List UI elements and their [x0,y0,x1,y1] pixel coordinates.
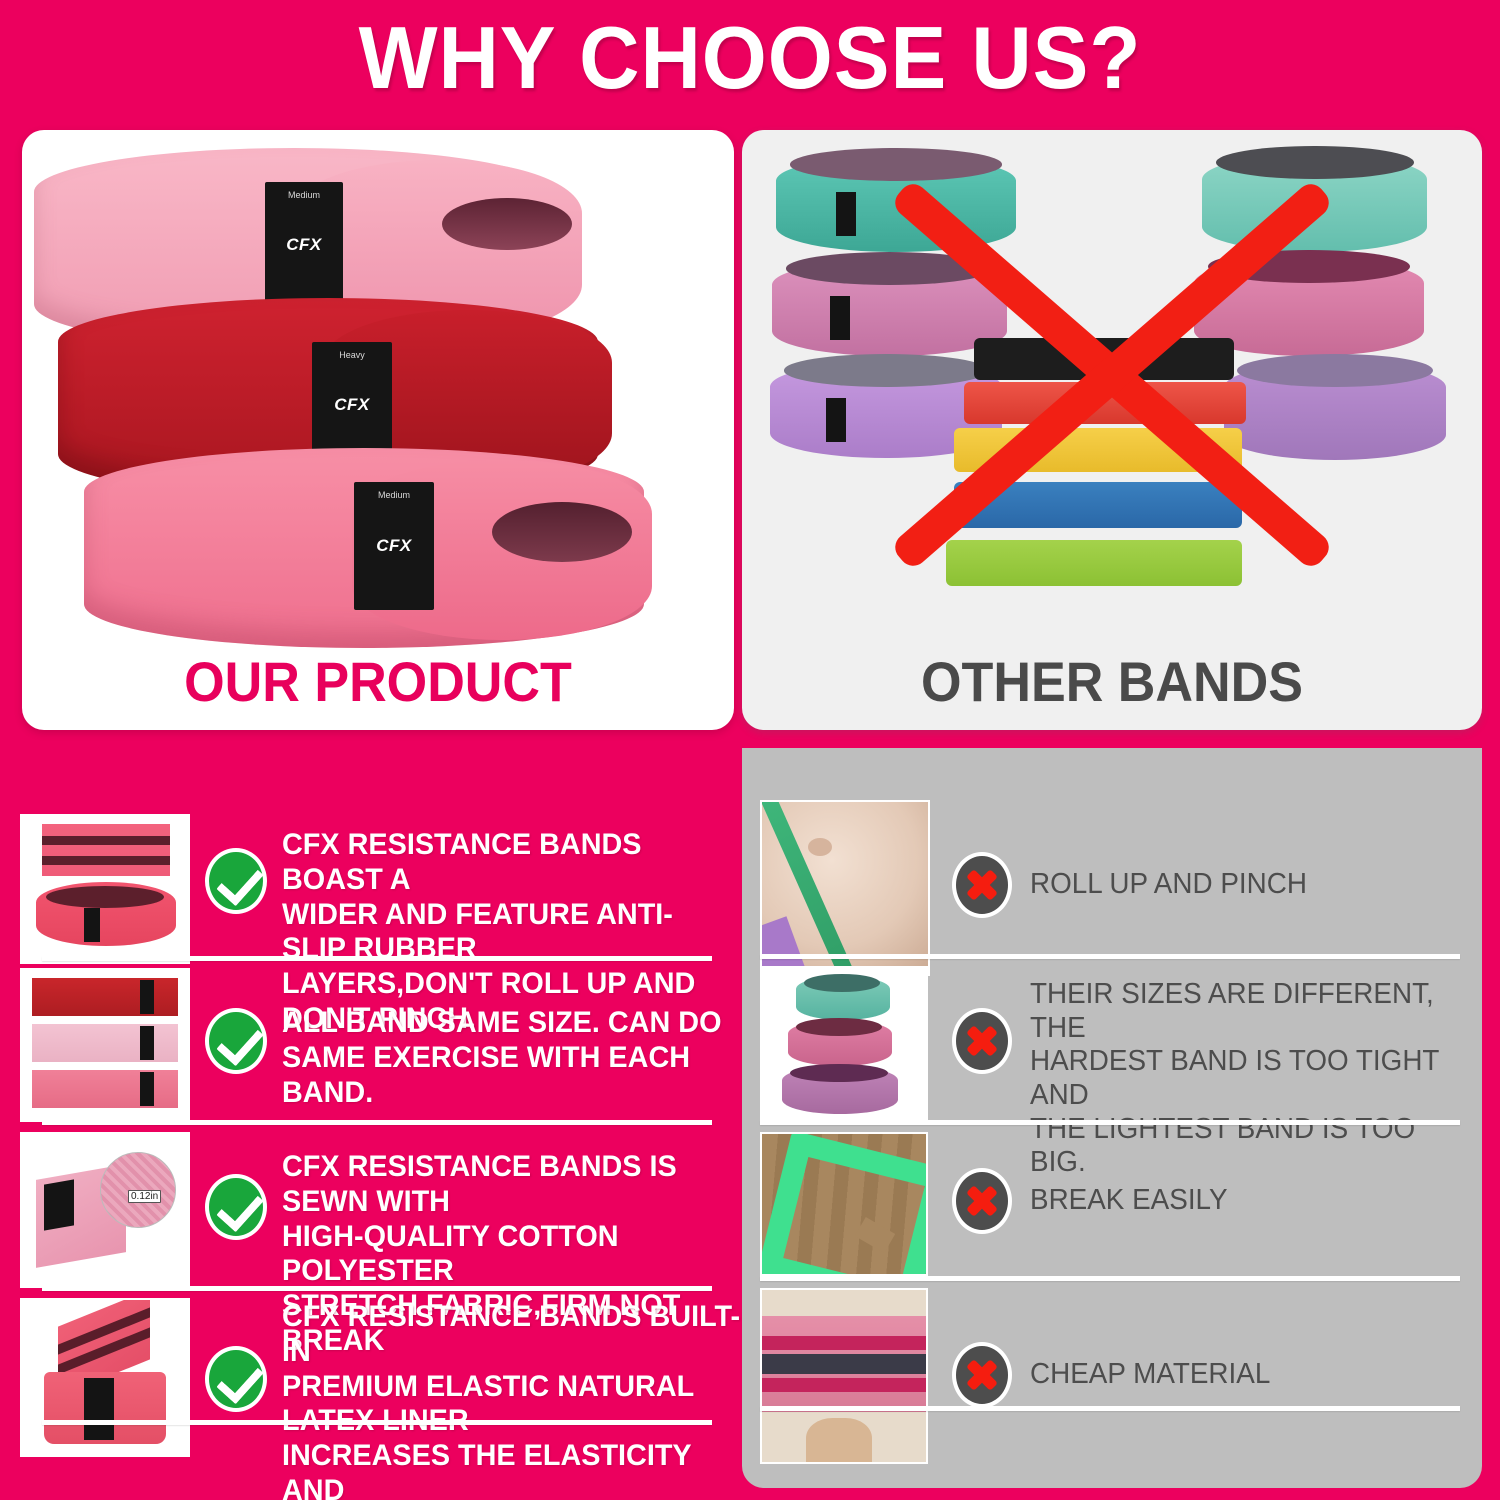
band-size-3: Medium [354,490,434,500]
band-bottom-inner-shadow [492,502,632,562]
con2-teal-inner [804,974,880,992]
infographic-page: WHY CHOOSE US? Medium CFX Heavy CFX [0,0,1500,1500]
con4-stripe-c [762,1378,926,1392]
thickness-callout: 0.12in [128,1190,161,1203]
con-thumb-1 [760,800,930,976]
pro-row-1: CFX RESISTANCE BANDS BOAST A WIDER AND F… [0,814,740,954]
pro-divider-1 [42,956,712,961]
cons-column: ROLL UP AND PINCH THEIR SIZES ARE DIFFER… [742,748,1482,1488]
thumb2-tab-3 [140,1072,154,1106]
pro-thumb-1 [20,814,190,964]
thumb1-label-tab [84,908,100,942]
thumb4-label-tab [84,1378,114,1440]
other-bands-caption: OTHER BANDS [768,649,1456,714]
pro-divider-2 [42,1120,712,1125]
thumb1-loop-inner [46,886,164,908]
check-icon-3 [205,1174,267,1240]
other-bands-photo [742,130,1482,630]
x-icon-1 [952,852,1012,918]
x-icon-4 [952,1342,1012,1408]
con1-navel [808,838,832,856]
other-band-purple-right [1224,362,1446,460]
thumb2-tab-1 [140,980,154,1014]
other-label-tab-1 [836,192,856,236]
our-product-panel: Medium CFX Heavy CFX Medium CFX OUR PROD… [22,130,734,730]
pro-row-3: 0.12in CFX RESISTANCE BANDS IS SEWN WITH… [0,1132,740,1284]
pro-thumb-4 [20,1298,190,1457]
flat-band-green [946,540,1242,586]
check-icon-4 [205,1346,267,1412]
con-row-1: ROLL UP AND PINCH [742,800,1482,972]
thumb2-tab-2 [140,1026,154,1060]
con2-purple-inner [790,1064,888,1082]
pro-text-4: CFX RESISTANCE BANDS BUILT-IN PREMIUM EL… [282,1300,743,1500]
band-brand-2: CFX [312,395,392,415]
our-product-photo: Medium CFX Heavy CFX Medium CFX [22,130,734,630]
thumb1-band-flat [42,824,170,876]
pro-divider-3 [42,1286,712,1291]
loop-inner-4 [1216,146,1414,179]
band-label-3: Medium CFX [354,482,434,610]
con-row-4: CHEAP MATERIAL [742,1288,1482,1460]
loop-inner-3 [784,354,988,387]
con-text-3: BREAK EASILY [1030,1184,1443,1218]
band-brand-1: CFX [265,235,343,255]
con-thumb-4 [760,1288,928,1464]
page-title: WHY CHOOSE US? [38,14,1463,102]
con4-stripe-a [762,1336,926,1350]
con2-pink-inner [796,1018,882,1036]
con-text-1: ROLL UP AND PINCH [1030,868,1443,902]
other-label-tab-2 [830,296,850,340]
con-divider-3 [760,1276,1460,1281]
con-thumb-3 [760,1132,928,1276]
pro-row-4: CFX RESISTANCE BANDS BUILT-IN PREMIUM EL… [0,1298,740,1458]
pro-thumb-3: 0.12in [20,1132,190,1288]
other-bands-panel: OTHER BANDS [742,130,1482,730]
pros-column: CFX RESISTANCE BANDS BOAST A WIDER AND F… [0,748,740,1488]
con-row-2: THEIR SIZES ARE DIFFERENT, THE HARDEST B… [742,966,1482,1118]
thumb1-stripe-b [42,856,170,865]
con-row-3: BREAK EASILY [742,1132,1482,1272]
our-product-caption: OUR PRODUCT [47,649,709,714]
band-medium-pink-top-inner-shadow [442,198,572,250]
check-icon-1 [205,848,267,914]
x-icon-3 [952,1168,1012,1234]
thumb2-band-red [32,978,178,1016]
pro-text-2: ALL BAND SAME SIZE. CAN DO SAME EXERCISE… [282,1006,733,1110]
con-divider-1 [760,954,1460,959]
loop-inner-1 [790,148,1001,181]
x-icon-2 [952,1008,1012,1074]
thumb3-label-tab [44,1179,74,1230]
band-label-1: Medium CFX [265,182,343,308]
pro-divider-4 [42,1420,712,1425]
band-size-2: Heavy [312,350,392,360]
thumb1-stripe-a [42,836,170,845]
thumb2-band-lightpink [32,1024,178,1062]
con-thumb-2 [760,966,928,1122]
thumb2-band-pink [32,1070,178,1108]
con-divider-2 [760,1120,1460,1125]
con-text-4: CHEAP MATERIAL [1030,1358,1443,1392]
other-label-tab-3 [826,398,846,442]
band-size-1: Medium [265,190,343,200]
band-brand-3: CFX [354,536,434,556]
con4-hand [806,1418,872,1464]
pro-thumb-2 [20,968,190,1122]
con4-stripe-b [762,1354,926,1374]
loop-inner-6 [1237,354,1432,387]
pro-row-2: ALL BAND SAME SIZE. CAN DO SAME EXERCISE… [0,968,740,1118]
con-divider-4 [760,1406,1460,1411]
check-icon-2 [205,1008,267,1074]
